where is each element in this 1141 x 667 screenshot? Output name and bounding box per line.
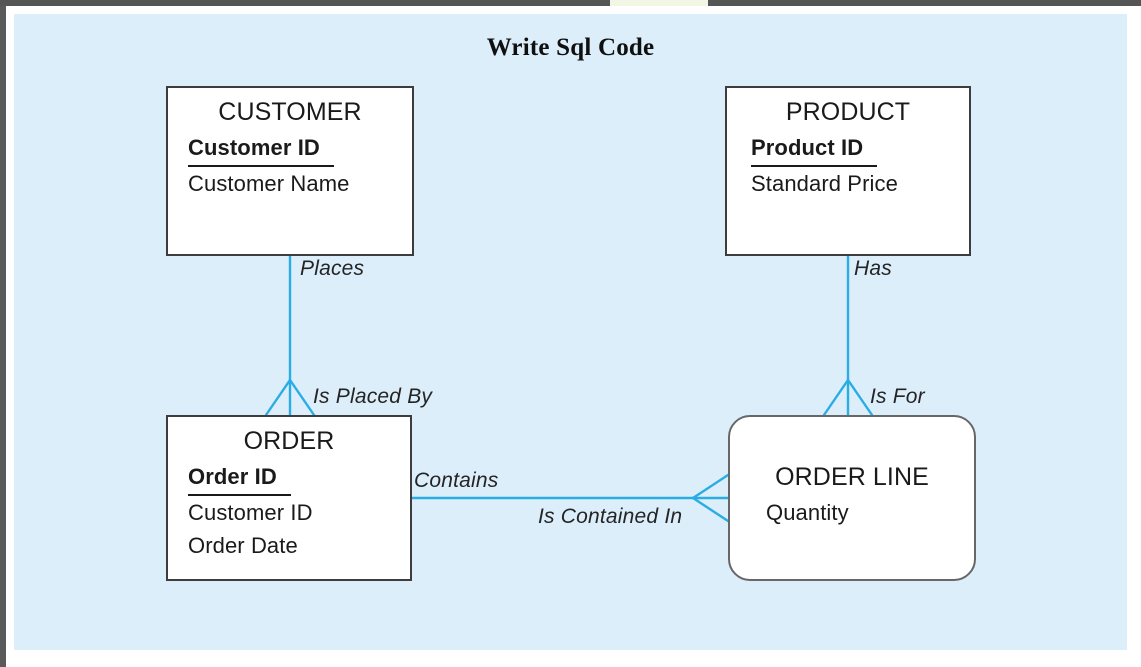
entity-order-line-attributes: Quantity	[730, 496, 974, 529]
attribute-order-id: Order ID	[188, 460, 291, 496]
entity-order-attributes: Order ID Customer ID Order Date	[168, 460, 410, 563]
attribute-quantity: Quantity	[766, 496, 974, 529]
entity-order[interactable]: ORDER Order ID Customer ID Order Date	[166, 415, 412, 581]
top-chrome-strip	[0, 0, 1141, 6]
entity-customer-attributes: Customer ID Customer Name	[168, 131, 412, 201]
relationship-label-is-placed-by: Is Placed By	[313, 385, 432, 409]
top-chrome-highlight	[610, 0, 708, 6]
entity-order-line[interactable]: ORDER LINE Quantity	[728, 415, 976, 581]
relationship-label-is-for: Is For	[870, 385, 925, 409]
relationship-label-has: Has	[854, 257, 892, 281]
entity-order-name: ORDER	[168, 425, 410, 459]
entity-customer-name: CUSTOMER	[168, 96, 412, 130]
attribute-standard-price: Standard Price	[751, 167, 969, 200]
relationship-label-contains: Contains	[414, 469, 498, 493]
page-root: Write Sql Code	[0, 0, 1141, 667]
diagram-canvas: Write Sql Code	[14, 14, 1127, 650]
attribute-order-customer-id: Customer ID	[188, 496, 410, 529]
relationship-label-is-contained-in: Is Contained In	[538, 505, 682, 529]
entity-customer[interactable]: CUSTOMER Customer ID Customer Name	[166, 86, 414, 256]
entity-product-attributes: Product ID Standard Price	[727, 131, 969, 201]
entity-product-name: PRODUCT	[727, 96, 969, 130]
attribute-product-id: Product ID	[751, 131, 877, 167]
page-title: Write Sql Code	[14, 34, 1127, 62]
relationship-label-places: Places	[300, 257, 364, 281]
attribute-order-date: Order Date	[188, 529, 410, 562]
attribute-customer-name: Customer Name	[188, 167, 412, 200]
entity-product[interactable]: PRODUCT Product ID Standard Price	[725, 86, 971, 256]
left-chrome-rail	[0, 6, 6, 667]
attribute-customer-id: Customer ID	[188, 131, 334, 167]
entity-order-line-name: ORDER LINE	[730, 461, 974, 495]
